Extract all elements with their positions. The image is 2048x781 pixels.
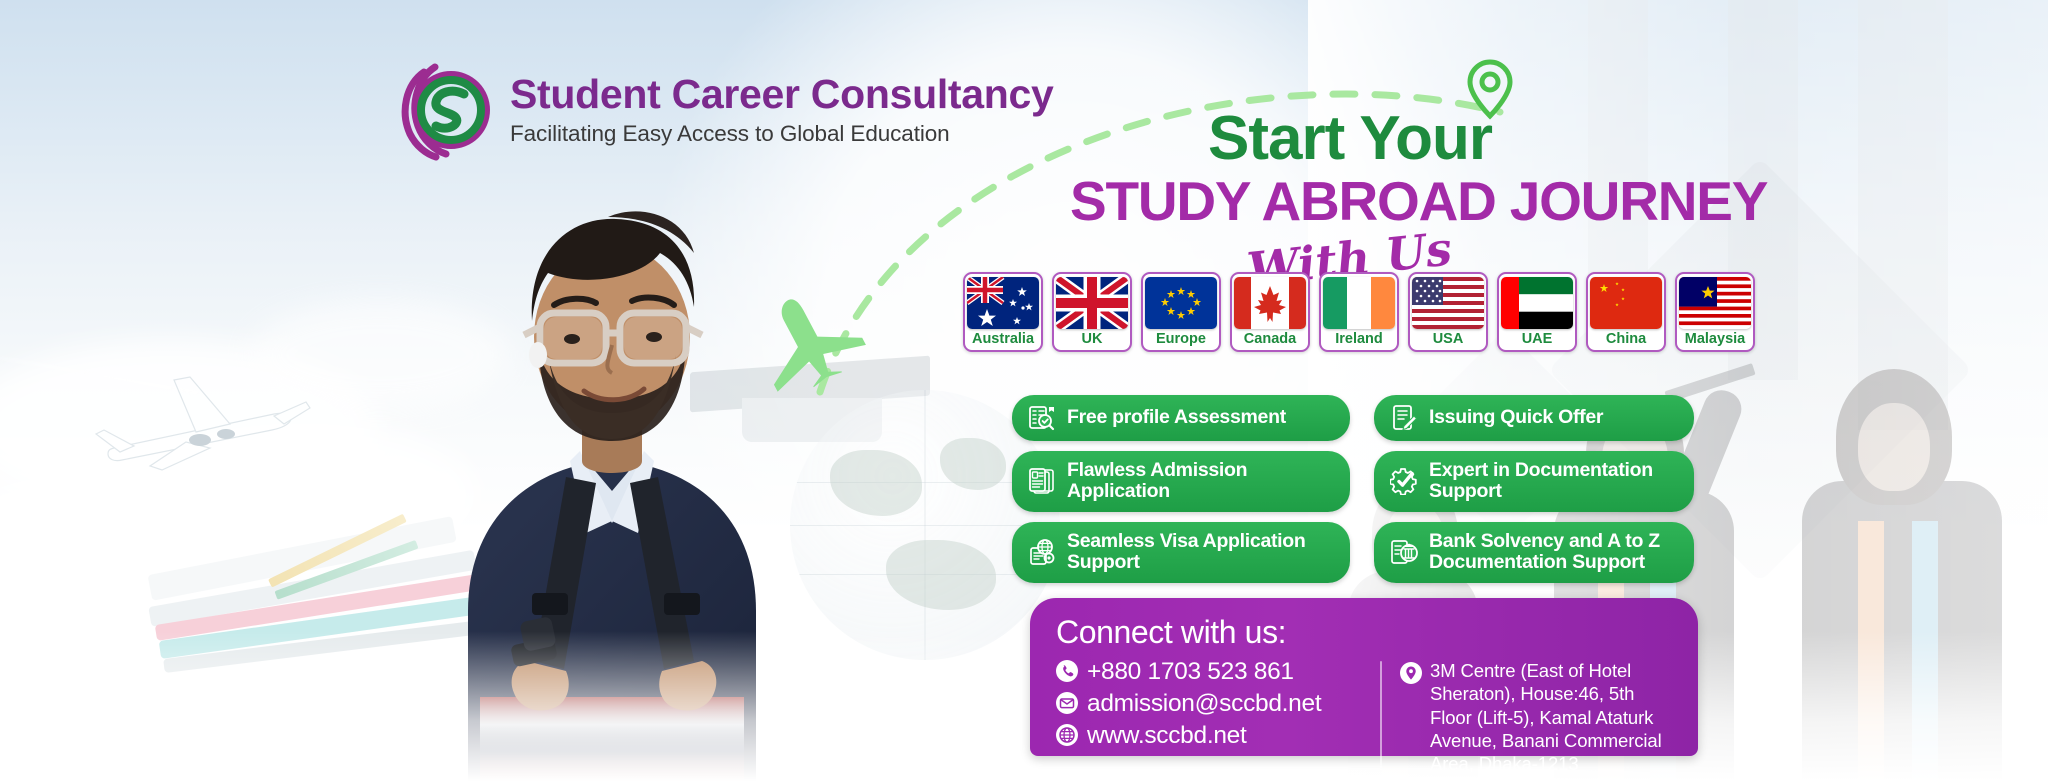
flag-label: China	[1606, 329, 1646, 350]
flag-card-europe[interactable]: Europe	[1141, 272, 1221, 352]
service-label: Seamless Visa Application Support	[1067, 531, 1334, 574]
promo-banner: Student Career Consultancy Facilitating …	[0, 0, 2048, 781]
globe-icon	[1056, 724, 1078, 746]
contact-details-column: +880 1703 523 861 admission@sccbd.net	[1056, 657, 1374, 775]
contact-website: www.sccbd.net	[1087, 721, 1247, 751]
flag-uk-icon	[1056, 277, 1128, 329]
service-issuing-quick-offer[interactable]: Issuing Quick Offer	[1374, 395, 1694, 441]
offer-letter-icon	[1390, 404, 1418, 432]
contact-email-row[interactable]: admission@sccbd.net	[1056, 689, 1374, 719]
flag-label: Malaysia	[1685, 329, 1745, 350]
country-flags-row: Australia UK	[963, 272, 1755, 352]
flag-label: UAE	[1522, 329, 1553, 350]
service-label: Issuing Quick Offer	[1429, 407, 1603, 428]
flag-card-ireland[interactable]: Ireland	[1319, 272, 1399, 352]
service-free-profile-assessment[interactable]: Free profile Assessment	[1012, 395, 1350, 441]
services-grid: Free profile Assessment Issuing Quick Of…	[1012, 395, 1694, 583]
bottom-fade	[0, 631, 2048, 781]
scc-s-monogram-icon	[394, 58, 498, 162]
profile-assessment-icon	[1028, 404, 1056, 432]
headline-line-1: Start Your	[1070, 108, 1630, 170]
brand-logo[interactable]: Student Career Consultancy Facilitating …	[394, 58, 1054, 162]
flag-ireland-icon	[1323, 277, 1395, 329]
service-bank-solvency-documentation-support[interactable]: Bank Solvency and A to Z Documentation S…	[1374, 522, 1694, 583]
phone-icon	[1056, 660, 1078, 682]
flag-label: Canada	[1244, 329, 1296, 350]
contact-panel: Connect with us: +880 1703 523 861	[1030, 598, 1698, 756]
service-seamless-visa-application-support[interactable]: Seamless Visa Application Support	[1012, 522, 1350, 583]
contact-divider	[1380, 661, 1382, 771]
contact-phone: +880 1703 523 861	[1087, 657, 1294, 687]
flag-label: Australia	[972, 329, 1034, 350]
service-label: Bank Solvency and A to Z Documentation S…	[1429, 531, 1678, 574]
flag-card-uk[interactable]: UK	[1052, 272, 1132, 352]
headline-line-2: STUDY ABROAD JOURNEY	[1070, 172, 1630, 230]
flag-card-malaysia[interactable]: Malaysia	[1675, 272, 1755, 352]
contact-address-column: 3M Centre (East of Hotel Sheraton), Hous…	[1400, 657, 1672, 775]
flag-europe-icon	[1145, 277, 1217, 329]
flag-label: Ireland	[1335, 329, 1383, 350]
flag-label: Europe	[1156, 329, 1206, 350]
flag-card-uae[interactable]: UAE	[1497, 272, 1577, 352]
flag-malaysia-icon	[1679, 277, 1751, 329]
flag-card-usa[interactable]: USA	[1408, 272, 1488, 352]
flag-card-canada[interactable]: Canada	[1230, 272, 1310, 352]
application-documents-icon	[1028, 467, 1056, 495]
service-label: Expert in Documentation Support	[1429, 460, 1678, 503]
bank-document-icon	[1390, 538, 1418, 566]
contact-website-row[interactable]: www.sccbd.net	[1056, 721, 1374, 751]
flag-uae-icon	[1501, 277, 1573, 329]
contact-phone-row[interactable]: +880 1703 523 861	[1056, 657, 1374, 687]
gear-check-icon	[1390, 467, 1418, 495]
service-flawless-admission-application[interactable]: Flawless Admission Application	[1012, 451, 1350, 512]
headline-block: Start Your STUDY ABROAD JOURNEY With Us	[1070, 108, 1630, 286]
flag-canada-icon	[1234, 277, 1306, 329]
contact-email: admission@sccbd.net	[1087, 689, 1321, 719]
service-expert-documentation-support[interactable]: Expert in Documentation Support	[1374, 451, 1694, 512]
location-pin-icon	[1400, 662, 1422, 684]
flag-label: USA	[1433, 329, 1464, 350]
service-label: Flawless Admission Application	[1067, 460, 1334, 503]
flag-china-icon	[1590, 277, 1662, 329]
flag-label: UK	[1082, 329, 1103, 350]
visa-passport-icon	[1028, 538, 1056, 566]
flag-card-china[interactable]: China	[1586, 272, 1666, 352]
envelope-icon	[1056, 692, 1078, 714]
flag-usa-icon	[1412, 277, 1484, 329]
contact-address: 3M Centre (East of Hotel Sheraton), Hous…	[1430, 659, 1672, 775]
brand-name: Student Career Consultancy	[510, 74, 1054, 115]
flag-card-australia[interactable]: Australia	[963, 272, 1043, 352]
airliner-photo-icon	[78, 356, 328, 506]
service-label: Free profile Assessment	[1067, 407, 1286, 428]
contact-title: Connect with us:	[1056, 614, 1672, 651]
flag-australia-icon	[967, 277, 1039, 329]
brand-tagline: Facilitating Easy Access to Global Educa…	[510, 123, 1054, 146]
